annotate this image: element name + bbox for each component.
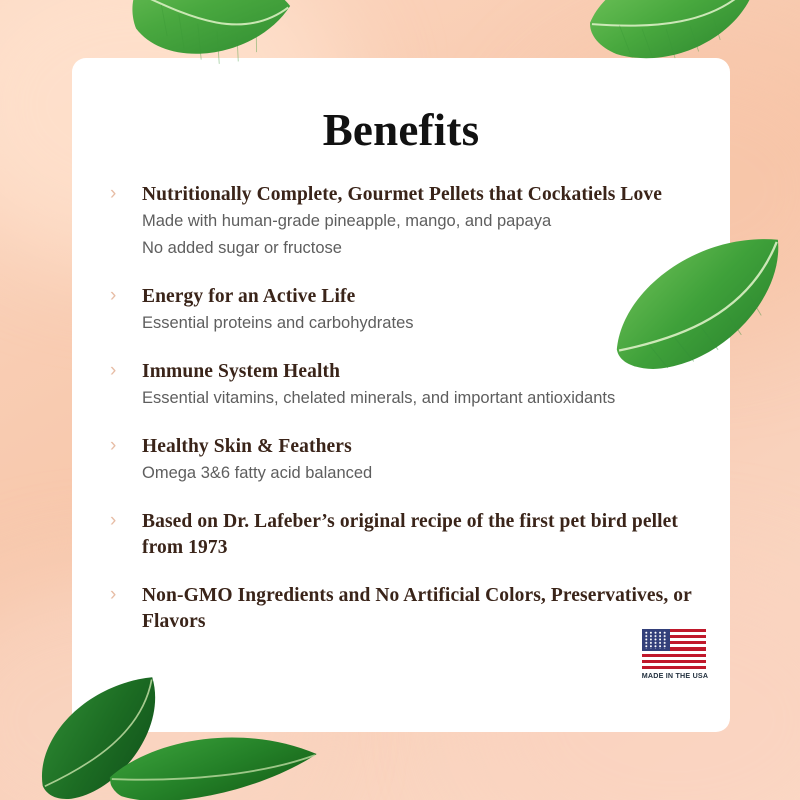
- benefit-detail: Essential proteins and carbohydrates: [142, 310, 696, 337]
- flag-stripe: [642, 666, 706, 669]
- made-in-usa-caption: MADE IN THE USA: [641, 673, 708, 680]
- benefit-detail: No added sugar or fructose: [142, 235, 696, 262]
- benefit-item: ›Healthy Skin & FeathersOmega 3&6 fatty …: [106, 434, 696, 487]
- chevron-right-icon: ›: [110, 435, 116, 457]
- benefits-list: ›Nutritionally Complete, Gourmet Pellets…: [106, 182, 696, 635]
- page-title: Benefits: [106, 104, 696, 156]
- card-content: Benefits ›Nutritionally Complete, Gourme…: [72, 58, 730, 732]
- benefit-title: Nutritionally Complete, Gourmet Pellets …: [142, 182, 696, 208]
- benefit-item: ›Non-GMO Ingredients and No Artificial C…: [106, 583, 696, 635]
- made-in-usa-badge: MADE IN THE USA: [642, 629, 708, 680]
- benefits-card: Benefits ›Nutritionally Complete, Gourme…: [72, 58, 730, 732]
- benefit-item: ›Nutritionally Complete, Gourmet Pellets…: [106, 182, 696, 262]
- benefit-item: ›Based on Dr. Lafeber’s original recipe …: [106, 509, 696, 561]
- chevron-right-icon: ›: [110, 285, 116, 307]
- benefit-title: Based on Dr. Lafeber’s original recipe o…: [142, 509, 696, 561]
- benefit-item: ›Immune System HealthEssential vitamins,…: [106, 359, 696, 412]
- benefit-detail: Essential vitamins, chelated minerals, a…: [142, 385, 696, 412]
- usa-flag-icon: [642, 629, 706, 669]
- flag-stripe: [642, 654, 706, 657]
- benefit-title: Healthy Skin & Feathers: [142, 434, 696, 460]
- chevron-right-icon: ›: [110, 360, 116, 382]
- chevron-right-icon: ›: [110, 183, 116, 205]
- benefit-detail: Omega 3&6 fatty acid balanced: [142, 460, 696, 487]
- flag-canton: [642, 629, 670, 651]
- benefit-item: ›Energy for an Active LifeEssential prot…: [106, 284, 696, 337]
- flag-stripe: [642, 660, 706, 663]
- benefit-detail: Made with human-grade pineapple, mango, …: [142, 208, 696, 235]
- chevron-right-icon: ›: [110, 584, 116, 606]
- benefit-title: Non-GMO Ingredients and No Artificial Co…: [142, 583, 696, 635]
- chevron-right-icon: ›: [110, 510, 116, 532]
- benefit-title: Immune System Health: [142, 359, 696, 385]
- benefit-title: Energy for an Active Life: [142, 284, 696, 310]
